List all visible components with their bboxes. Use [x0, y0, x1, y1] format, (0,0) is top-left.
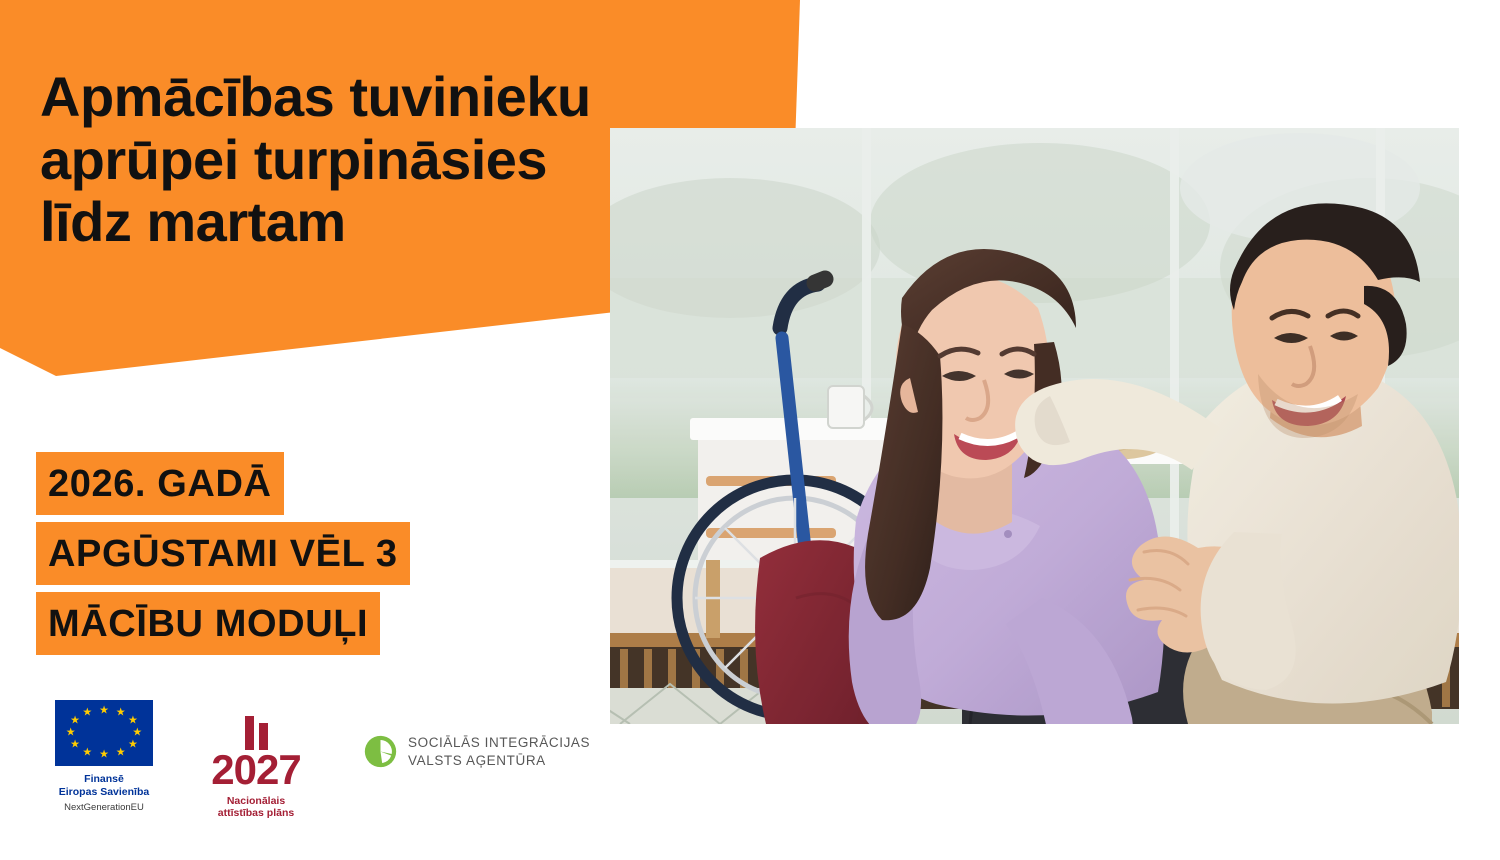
eu-caption-line-1: Finansē: [44, 773, 164, 786]
headline-line-3: līdz martam: [40, 191, 780, 254]
nap-caption-line-2: attīstības plāns: [186, 807, 326, 820]
eu-flag-logo: ★ ★ ★ ★ ★ ★ ★ ★ ★ ★ ★ ★ Finansē Eiropas …: [44, 700, 164, 813]
subheading-line-2: APGŪSTAMI VĒL 3: [36, 522, 410, 585]
headline-line-2: aprūpei turpināsies: [40, 129, 780, 192]
headline-line-1: Apmācības tuvinieku: [40, 66, 780, 129]
subheading: 2026. GADĀ APGŪSTAMI VĒL 3 MĀCĪBU MODUĻI: [36, 452, 410, 655]
nacionalais-attistibas-plans-logo: 2027 Nacionālais attīstības plāns: [186, 700, 326, 820]
nap-year: 2027: [186, 751, 326, 790]
sociala-integracijas-valsts-agentura-logo: SOCIĀLĀS INTEGRĀCIJAS VALSTS AĢENTŪRA: [364, 700, 590, 770]
eu-caption-line-2: Eiropas Savienība: [44, 786, 164, 799]
siva-line-1: SOCIĀLĀS INTEGRĀCIJAS: [408, 734, 590, 752]
subheading-line-1: 2026. GADĀ: [36, 452, 284, 515]
nap-caption: Nacionālais attīstības plāns: [186, 795, 326, 820]
eu-subcaption: NextGenerationEU: [44, 802, 164, 813]
eu-caption: Finansē Eiropas Savienība: [44, 773, 164, 799]
siva-wordmark: SOCIĀLĀS INTEGRĀCIJAS VALSTS AĢENTŪRA: [408, 734, 590, 770]
eu-flag-icon: ★ ★ ★ ★ ★ ★ ★ ★ ★ ★ ★ ★: [55, 700, 153, 766]
siva-line-2: VALSTS AĢENTŪRA: [408, 752, 590, 770]
nap-bars-icon: [186, 716, 326, 750]
logo-strip: ★ ★ ★ ★ ★ ★ ★ ★ ★ ★ ★ ★ Finansē Eiropas …: [44, 700, 590, 820]
siva-leaf-circle-icon: [364, 735, 397, 768]
subheading-line-3: MĀCĪBU MODUĻI: [36, 592, 380, 655]
nap-caption-line-1: Nacionālais: [186, 795, 326, 808]
page-title: Apmācības tuvinieku aprūpei turpināsies …: [40, 66, 780, 254]
